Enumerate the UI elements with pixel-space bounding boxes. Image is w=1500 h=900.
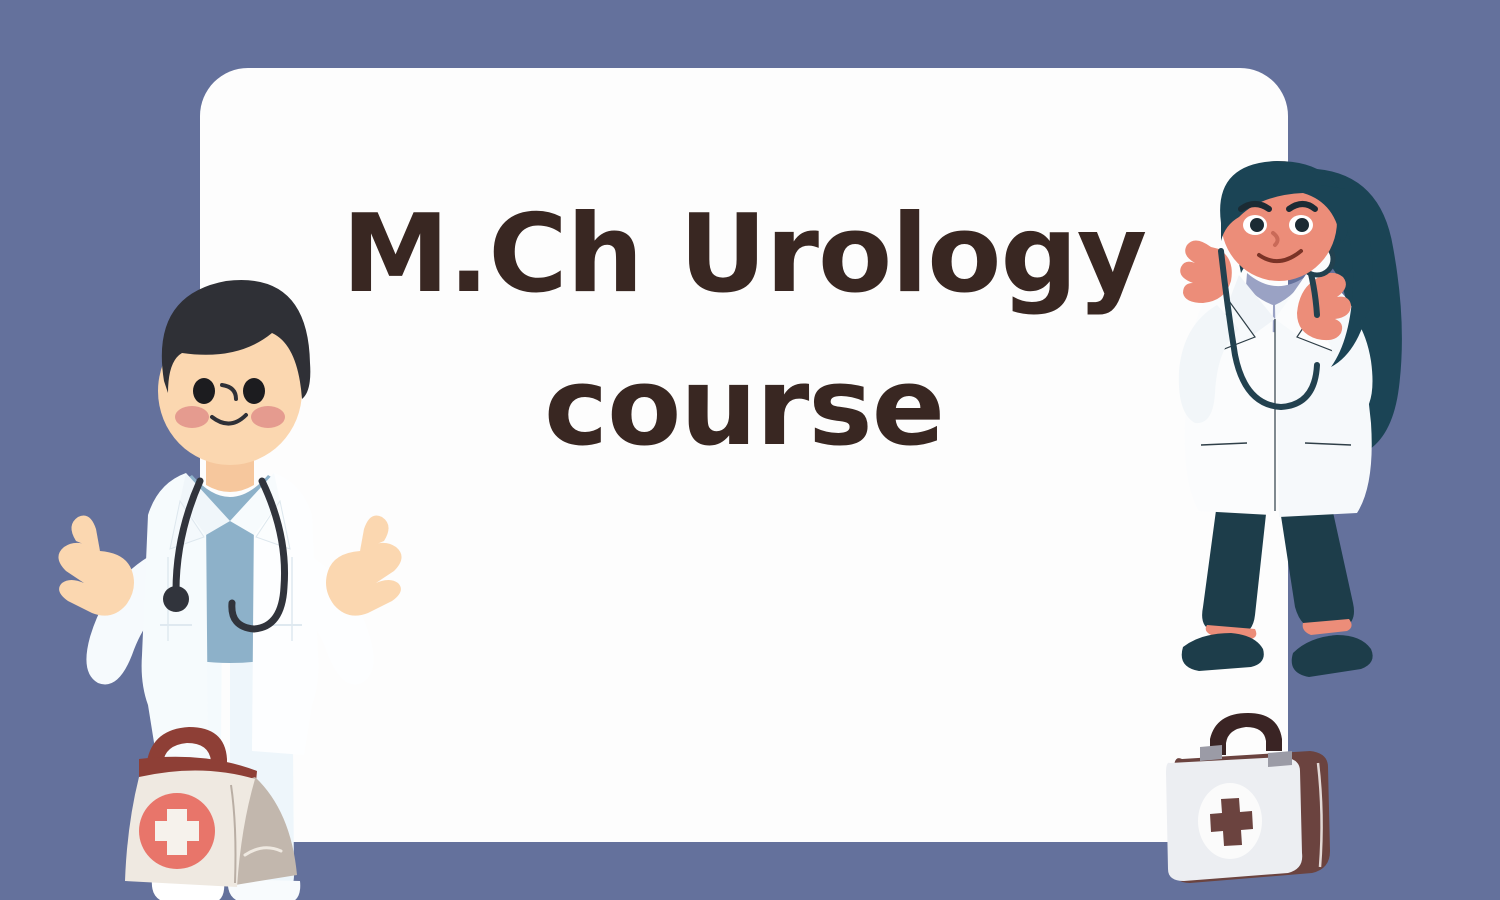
- right-doctor-trousers: [1202, 503, 1354, 639]
- right-doctor-shoes: [1182, 633, 1373, 677]
- right-bag-clasp-left: [1200, 745, 1222, 761]
- right-first-aid-bag: [1160, 705, 1360, 890]
- right-doctor-illustration: [1155, 155, 1445, 685]
- left-doctor-illustration: [40, 185, 440, 745]
- left-doctor-head: [158, 280, 310, 465]
- right-bag-clasp-right: [1268, 751, 1292, 767]
- poster-canvas: M.Ch Urology course: [0, 0, 1500, 900]
- left-doctor-stethoscope-chestpiece: [163, 586, 189, 612]
- left-first-aid-bag: [105, 715, 320, 895]
